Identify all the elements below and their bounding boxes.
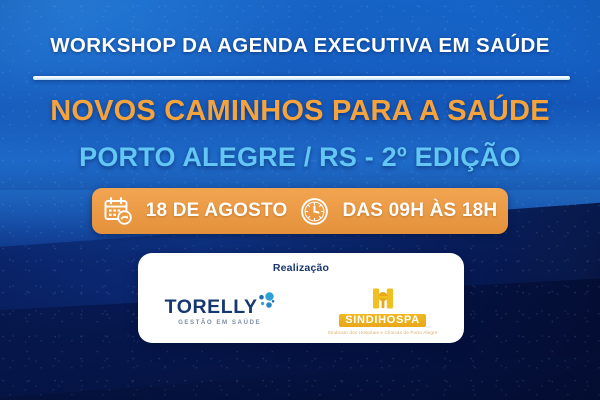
torelly-wordmark-row: TORELLY bbox=[165, 298, 275, 318]
sponsor-logo-sindihospa: SINDIHOSPA Sindicato dos Hospitais e Clí… bbox=[328, 287, 438, 337]
event-date: 18 DE AGOSTO bbox=[146, 200, 288, 222]
event-kicker-title: WORKSHOP DA AGENDA EXECUTIVA EM SAÚDE bbox=[0, 34, 600, 58]
event-subheadline: PORTO ALEGRE / RS - 2º EDIÇÃO bbox=[0, 142, 600, 173]
torelly-wordmark: TORELLY bbox=[165, 298, 258, 318]
clock-icon bbox=[300, 197, 329, 226]
schedule-pill: 18 DE AGOSTO bbox=[92, 188, 508, 234]
sponsors-card-title: Realização bbox=[138, 262, 464, 274]
dots-cluster-icon bbox=[255, 292, 275, 312]
torelly-tagline: GESTÃO EM SAÚDE bbox=[178, 320, 261, 326]
event-promo-banner: WORKSHOP DA AGENDA EXECUTIVA EM SAÚDE NO… bbox=[0, 0, 600, 400]
sponsor-logo-torelly: TORELLY GESTÃO EM SAÚDE bbox=[165, 298, 275, 327]
event-headline: NOVOS CAMINHOS PARA A SAÚDE bbox=[0, 95, 600, 128]
sindihospa-icon bbox=[370, 287, 396, 313]
calendar-icon bbox=[103, 196, 133, 226]
sindihospa-tagline: Sindicato dos Hospitais e Clínicas de Po… bbox=[328, 330, 438, 337]
sponsors-card: Realização TORELLY bbox=[138, 253, 464, 343]
banner-content: WORKSHOP DA AGENDA EXECUTIVA EM SAÚDE NO… bbox=[0, 0, 600, 400]
sponsor-logo-row: TORELLY GESTÃO EM SAÚDE bbox=[138, 283, 464, 341]
title-divider bbox=[33, 76, 570, 80]
event-time: DAS 09H ÀS 18H bbox=[342, 200, 497, 222]
sindihospa-wordmark: SINDIHOSPA bbox=[339, 314, 426, 327]
